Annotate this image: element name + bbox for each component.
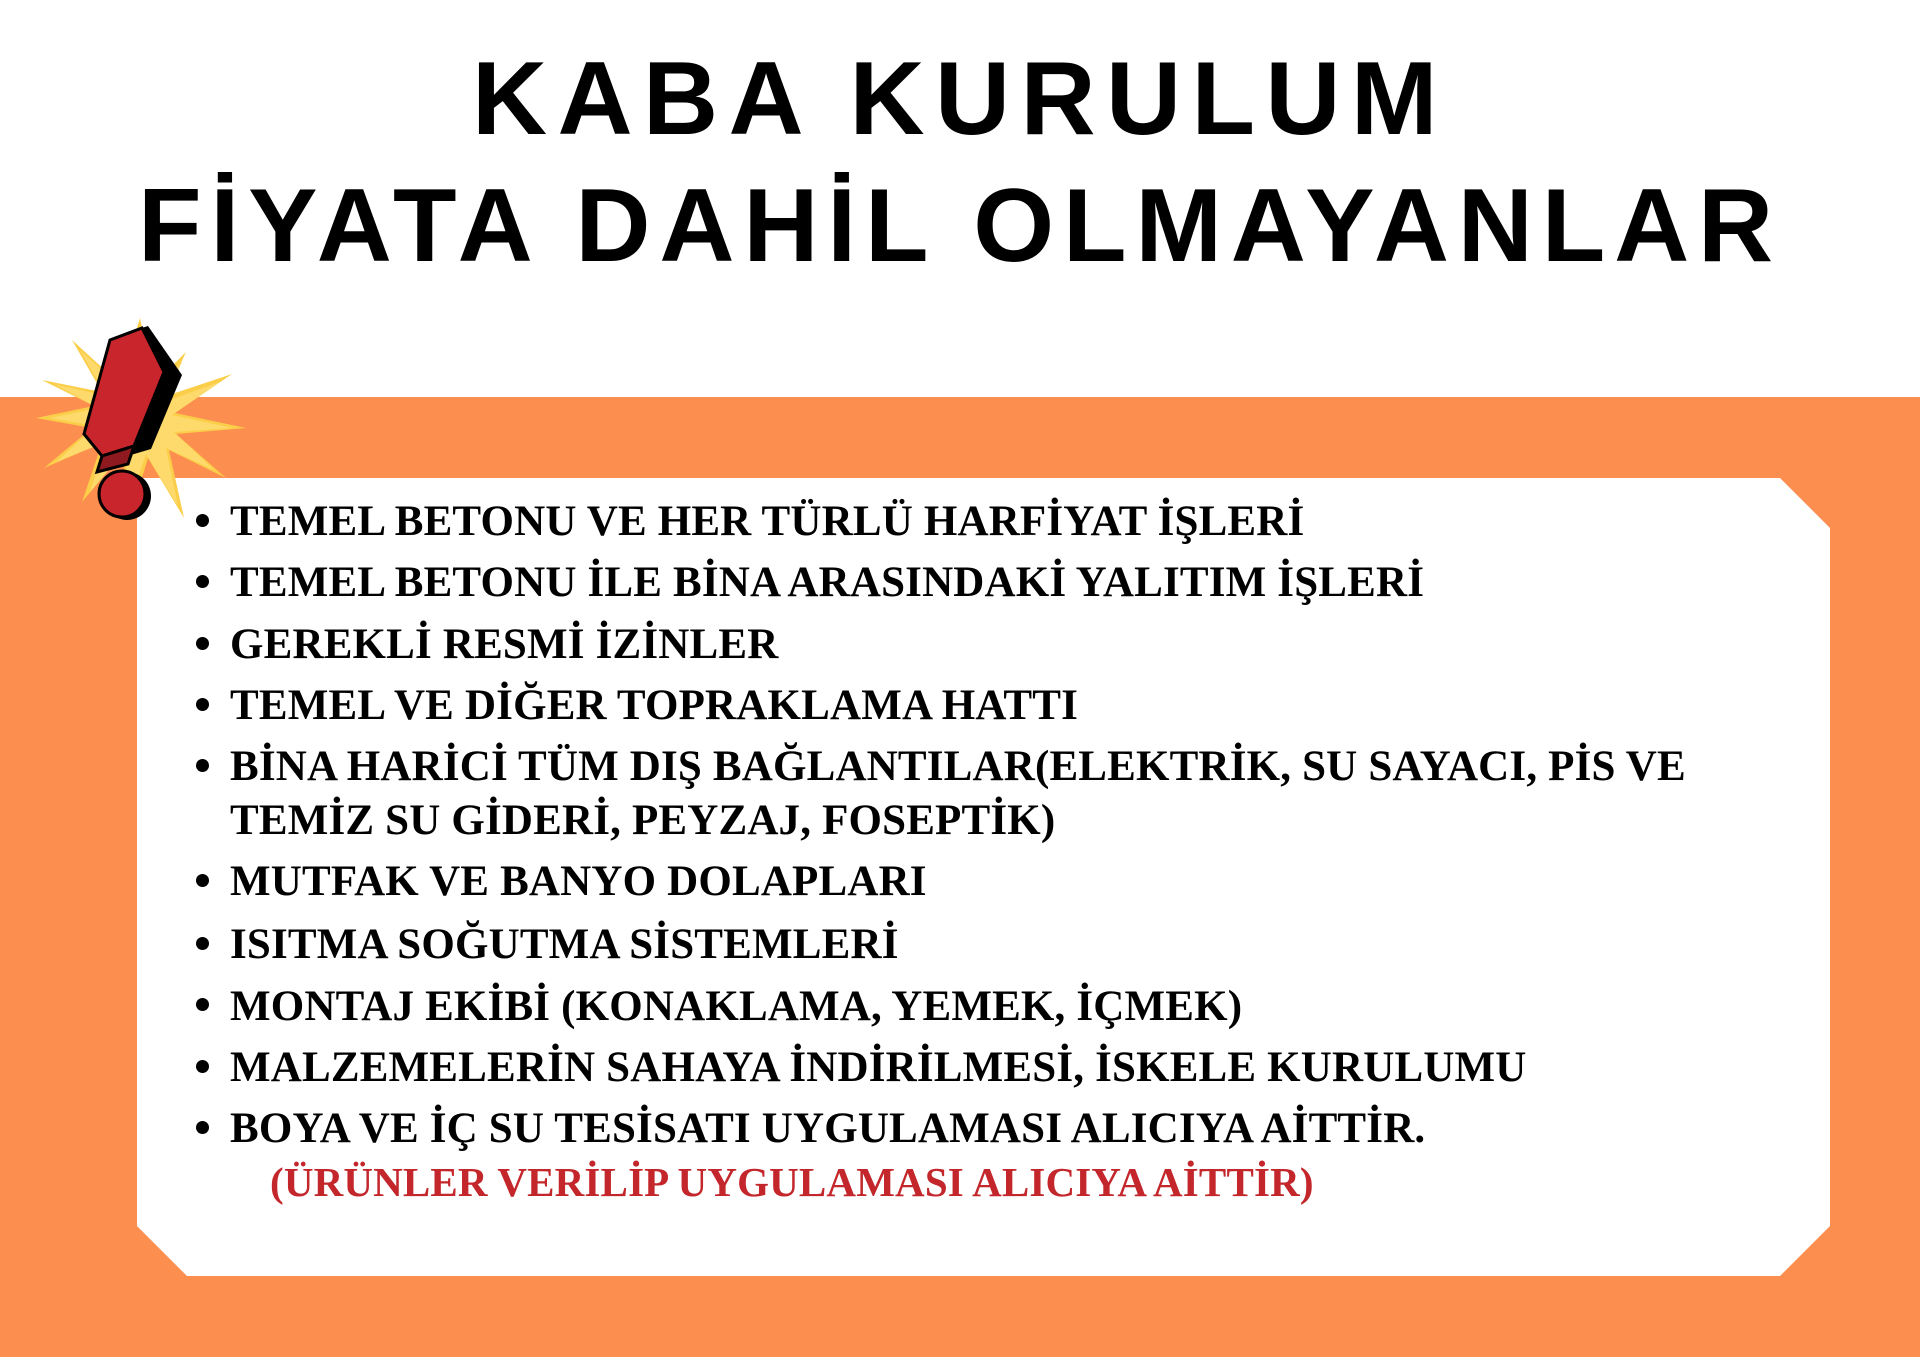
list-item: ISITMA SOĞUTMA SİSTEMLERİ <box>190 918 1830 971</box>
list-item-label: BOYA VE İÇ SU TESİSATI UYGULAMASI ALICIY… <box>230 1102 1830 1155</box>
bullet-dot-icon <box>196 998 209 1011</box>
note-label: (ÜRÜNLER VERİLİP UYGULAMASI ALICIYA AİTT… <box>230 1157 1830 1208</box>
bullet-dot-icon <box>196 1121 209 1134</box>
bullet-dot-icon <box>196 514 209 527</box>
list-item-label: TEMEL BETONU VE HER TÜRLÜ HARFİYAT İŞLER… <box>230 495 1830 548</box>
list-item: MONTAJ EKİBİ (KONAKLAMA, YEMEK, İÇMEK) <box>190 980 1830 1033</box>
list-item: GEREKLİ RESMİ İZİNLER <box>190 618 1830 671</box>
bullet-dot-icon <box>196 698 209 711</box>
title-block: KABA KURULUM FİYATA DAHİL OLMAYANLAR <box>0 0 1920 397</box>
page-title-line-1: KABA KURULUM <box>472 36 1448 163</box>
list-item: TEMEL BETONU İLE BİNA ARASINDAKİ YALITIM… <box>190 556 1830 609</box>
list-item: BİNA HARİCİ TÜM DIŞ BAĞLANTILAR(ELEKTRİK… <box>190 740 1830 847</box>
bullet-dot-icon <box>196 1060 209 1073</box>
list-item-label: MONTAJ EKİBİ (KONAKLAMA, YEMEK, İÇMEK) <box>230 980 1830 1033</box>
list-item: MUTFAK VE BANYO DOLAPLARI <box>190 855 1830 908</box>
list-item: MALZEMELERİN SAHAYA İNDİRİLMESİ, İSKELE … <box>190 1041 1830 1094</box>
list-item-label: BİNA HARİCİ TÜM DIŞ BAĞLANTILAR(ELEKTRİK… <box>230 740 1830 847</box>
list-item-label: MALZEMELERİN SAHAYA İNDİRİLMESİ, İSKELE … <box>230 1041 1830 1094</box>
slide-root: KABA KURULUM FİYATA DAHİL OLMAYANLAR TEM… <box>0 0 1920 1357</box>
bullet-dot-icon <box>196 575 209 588</box>
bullet-dot-icon <box>196 937 209 950</box>
list-item-label: TEMEL BETONU İLE BİNA ARASINDAKİ YALITIM… <box>230 556 1830 609</box>
list-item: TEMEL BETONU VE HER TÜRLÜ HARFİYAT İŞLER… <box>190 495 1830 548</box>
exclusions-list: TEMEL BETONU VE HER TÜRLÜ HARFİYAT İŞLER… <box>190 495 1830 1216</box>
list-item-label: ISITMA SOĞUTMA SİSTEMLERİ <box>230 918 1830 971</box>
list-item: BOYA VE İÇ SU TESİSATI UYGULAMASI ALICIY… <box>190 1102 1830 1208</box>
list-item-label: GEREKLİ RESMİ İZİNLER <box>230 618 1830 671</box>
bullet-dot-icon <box>196 637 209 650</box>
list-item-label: TEMEL VE DİĞER TOPRAKLAMA HATTI <box>230 679 1830 732</box>
list-item-label: MUTFAK VE BANYO DOLAPLARI <box>230 855 1830 908</box>
list-item: TEMEL VE DİĞER TOPRAKLAMA HATTI <box>190 679 1830 732</box>
bullet-dot-icon <box>196 759 209 772</box>
page-title-line-2: FİYATA DAHİL OLMAYANLAR <box>138 163 1782 290</box>
bullet-dot-icon <box>196 874 209 887</box>
